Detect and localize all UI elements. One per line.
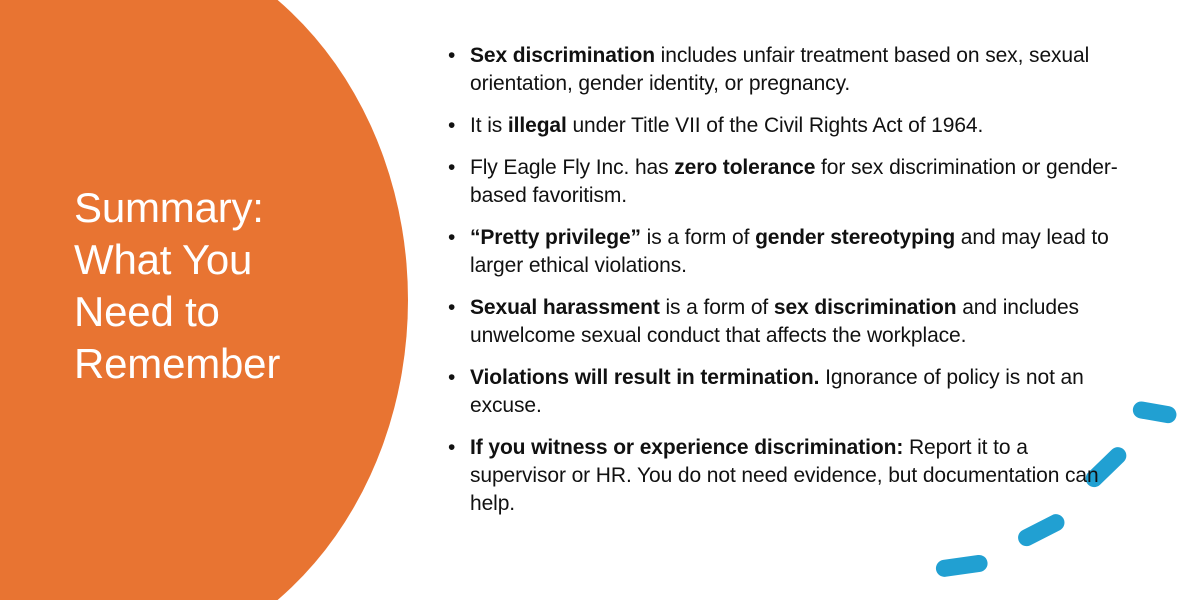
list-item-text: It is illegal under Title VII of the Civ… bbox=[470, 114, 983, 137]
list-item-text: “Pretty privilege” is a form of gender s… bbox=[470, 226, 1109, 277]
title-line-3: Need to bbox=[74, 286, 374, 338]
list-item-text: Sexual harassment is a form of sex discr… bbox=[470, 296, 1079, 347]
page-title: Summary: What You Need to Remember bbox=[74, 182, 374, 390]
bullet-marker-icon: • bbox=[448, 434, 455, 462]
list-item-text: Sex discrimination includes unfair treat… bbox=[470, 44, 1089, 95]
title-line-4: Remember bbox=[74, 338, 374, 390]
list-item-text: Violations will result in termination. I… bbox=[470, 366, 1084, 417]
bullet-marker-icon: • bbox=[448, 224, 455, 252]
list-item: • If you witness or experience discrimin… bbox=[446, 434, 1118, 518]
bullet-marker-icon: • bbox=[448, 294, 455, 322]
title-line-1: Summary: bbox=[74, 182, 374, 234]
list-item: • It is illegal under Title VII of the C… bbox=[446, 112, 1118, 140]
title-line-2: What You bbox=[74, 234, 374, 286]
slide: Summary: What You Need to Remember • Sex… bbox=[0, 0, 1200, 600]
list-item: • “Pretty privilege” is a form of gender… bbox=[446, 224, 1118, 280]
bullet-marker-icon: • bbox=[448, 112, 455, 140]
bullet-marker-icon: • bbox=[448, 154, 455, 182]
summary-bullet-list: • Sex discrimination includes unfair tre… bbox=[446, 42, 1118, 518]
bullet-marker-icon: • bbox=[448, 364, 455, 392]
list-item: • Sexual harassment is a form of sex dis… bbox=[446, 294, 1118, 350]
list-item-text: Fly Eagle Fly Inc. has zero tolerance fo… bbox=[470, 156, 1118, 207]
list-item-text: If you witness or experience discriminat… bbox=[470, 436, 1099, 515]
bullet-marker-icon: • bbox=[448, 42, 455, 70]
list-item: • Sex discrimination includes unfair tre… bbox=[446, 42, 1118, 98]
list-item: • Violations will result in termination.… bbox=[446, 364, 1118, 420]
list-item: • Fly Eagle Fly Inc. has zero tolerance … bbox=[446, 154, 1118, 210]
